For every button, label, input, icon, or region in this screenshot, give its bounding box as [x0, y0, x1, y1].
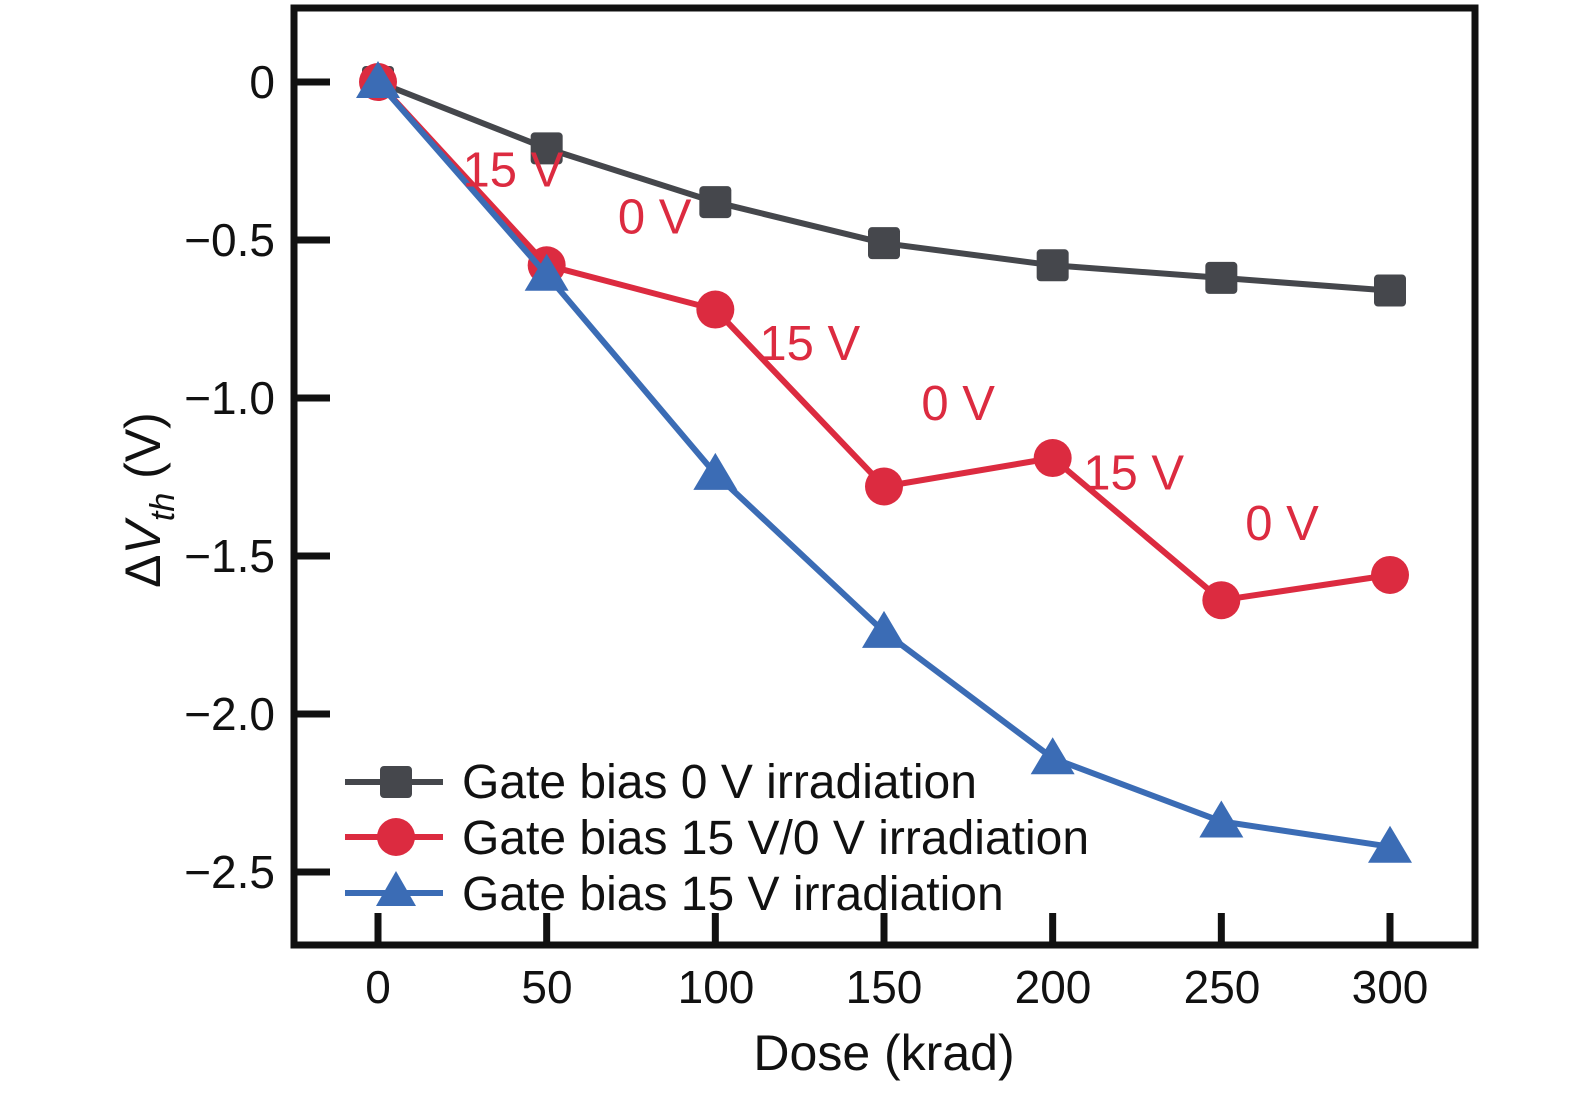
x-tick-label-4: 200 — [1015, 961, 1092, 1013]
legend-marker-square — [380, 766, 412, 798]
y-axis-title-v: V — [115, 516, 171, 554]
data-point-s1-i6 — [1371, 556, 1409, 594]
data-point-s0-i2 — [699, 186, 731, 218]
y-tick-labels: 0 −0.5 −1.0 −1.5 −2.0 −2.5 — [184, 56, 275, 898]
data-point-s1-i4 — [1034, 439, 1072, 477]
y-axis-title: ΔVth (V) — [115, 412, 182, 588]
annotation-2: 15 V — [759, 317, 860, 371]
y-tick-label-4: −2.0 — [184, 688, 275, 740]
data-point-s1-i5 — [1202, 581, 1240, 619]
legend-label-2: Gate bias 15 V irradiation — [462, 868, 1004, 921]
data-point-s0-i3 — [868, 227, 900, 259]
y-axis-title-delta: Δ — [115, 554, 171, 587]
y-axis-title-unit: (V) — [115, 412, 171, 479]
figure-container: 0 −0.5 −1.0 −1.5 −2.0 −2.5 0 50 100 150 … — [0, 0, 1575, 1093]
legend-marker-circle — [377, 818, 415, 856]
y-axis-title-sub: th — [144, 493, 182, 521]
x-tick-labels: 0 50 100 150 200 250 300 — [365, 961, 1428, 1013]
y-tick-label-3: −1.5 — [184, 530, 275, 582]
legend-label-0: Gate bias 0 V irradiation — [462, 756, 977, 809]
annotation-5: 0 V — [1245, 497, 1319, 551]
data-point-s1-i3 — [865, 467, 903, 505]
chart-canvas: 0 −0.5 −1.0 −1.5 −2.0 −2.5 0 50 100 150 … — [0, 0, 1575, 1093]
x-tick-label-0: 0 — [365, 961, 391, 1013]
y-tick-label-2: −1.0 — [184, 372, 275, 424]
annotation-4: 15 V — [1083, 447, 1184, 501]
x-tick-label-5: 250 — [1184, 961, 1261, 1013]
x-tick-label-3: 150 — [846, 961, 923, 1013]
x-tick-label-1: 50 — [521, 961, 572, 1013]
x-axis-title: Dose (krad) — [753, 1025, 1014, 1081]
data-point-s0-i6 — [1374, 275, 1406, 307]
annotation-3: 0 V — [921, 377, 995, 431]
data-point-s1-i2 — [696, 291, 734, 329]
data-point-s0-i4 — [1037, 249, 1069, 281]
y-tick-label-5: −2.5 — [184, 846, 275, 898]
annotation-1: 0 V — [618, 191, 692, 245]
y-tick-label-1: −0.5 — [184, 214, 275, 266]
svg-text:ΔVth (V): ΔVth (V) — [115, 412, 182, 588]
legend-label-1: Gate bias 15 V/0 V irradiation — [462, 812, 1089, 865]
y-tick-label-0: 0 — [249, 56, 275, 108]
x-tick-label-6: 300 — [1352, 961, 1429, 1013]
x-tick-label-2: 100 — [678, 961, 755, 1013]
annotation-0: 15 V — [463, 143, 564, 197]
data-point-s0-i5 — [1205, 262, 1237, 294]
